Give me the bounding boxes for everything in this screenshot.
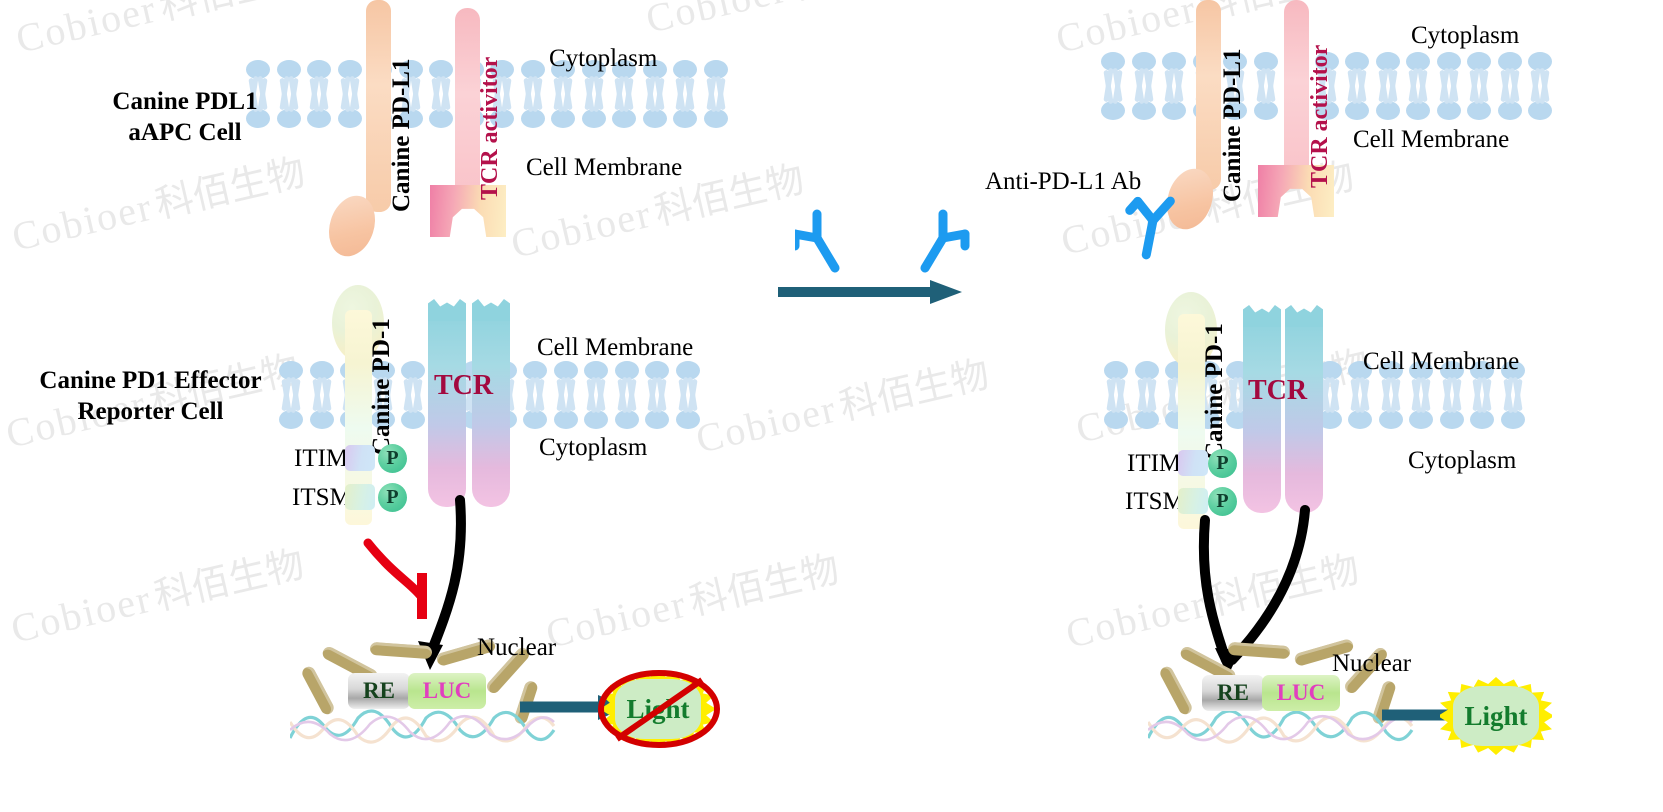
watermark-text-cn: 科佰生物 bbox=[150, 542, 308, 619]
no-light-prohibition-icon bbox=[596, 667, 722, 751]
lipid-molecule bbox=[1436, 54, 1462, 120]
lipid-molecule bbox=[309, 363, 335, 429]
phosphate-badge: P bbox=[1208, 449, 1237, 478]
lipid-molecule bbox=[306, 62, 332, 128]
tcr-chain bbox=[1285, 318, 1323, 513]
watermark-text-en: Cobioer bbox=[8, 184, 157, 260]
lipid-molecule bbox=[1466, 54, 1492, 120]
lipid-molecule bbox=[1103, 363, 1129, 429]
response-element-box: RE bbox=[348, 673, 410, 709]
luciferase-box: LUC bbox=[1262, 675, 1340, 711]
watermark: Cobioer 科佰生物 bbox=[690, 343, 994, 464]
effector-cytoplasm-label-right: Cytoplasm bbox=[1408, 447, 1516, 475]
watermark: Cobioer 科佰生物 bbox=[640, 0, 944, 44]
lipid-molecule bbox=[1253, 54, 1279, 120]
tcr-chain bbox=[428, 312, 466, 507]
luciferase-box: LUC bbox=[408, 673, 486, 709]
watermark: Cobioer 科佰生物 bbox=[5, 533, 309, 654]
itim-label-left: ITIM bbox=[294, 445, 348, 473]
tcr-activator-stem bbox=[1284, 0, 1309, 180]
lipid-molecule bbox=[1131, 54, 1157, 120]
nuclear-label-right: Nuclear bbox=[1332, 650, 1411, 678]
pd1-receptor-label: Canine PD-1 bbox=[368, 318, 396, 455]
pdl1-receptor-label: Canine PD-L1 bbox=[1219, 49, 1247, 202]
watermark-text-cn: 科佰生物 bbox=[151, 150, 309, 227]
lipid-molecule bbox=[703, 62, 729, 128]
lipid-molecule bbox=[644, 363, 670, 429]
apc-cytoplasm-label-right: Cytoplasm bbox=[1411, 22, 1519, 50]
lipid-molecule bbox=[1100, 54, 1126, 120]
watermark-text-cn: 科佰生物 bbox=[155, 0, 313, 29]
nuclear-label-left: Nuclear bbox=[477, 634, 556, 662]
lipid-molecule bbox=[276, 62, 302, 128]
apc-cell-title-left: Canine PDL1 aAPC Cell bbox=[95, 86, 275, 149]
antibody-pair-icon bbox=[795, 208, 975, 278]
itim-motif-box bbox=[1178, 450, 1208, 476]
pdl1-receptor-stem bbox=[1196, 0, 1221, 190]
effector-cell-membrane-label-left: Cell Membrane bbox=[537, 334, 693, 362]
watermark: Cobioer 科佰生物 bbox=[10, 0, 314, 64]
lipid-molecule bbox=[553, 363, 579, 429]
transition-arrow bbox=[778, 278, 968, 306]
effector-cell-title-line2: Reporter Cell bbox=[18, 396, 283, 427]
lipid-molecule bbox=[1375, 54, 1401, 120]
lipid-molecule bbox=[1405, 54, 1431, 120]
response-element-box: RE bbox=[1202, 675, 1264, 711]
tcr-label: TCR bbox=[1248, 375, 1307, 407]
lipid-molecule bbox=[337, 62, 363, 128]
effector-cell-title-left: Canine PD1 Effector Reporter Cell bbox=[18, 365, 283, 428]
bound-antibody-icon bbox=[1115, 196, 1225, 272]
watermark-text-en: Cobioer bbox=[507, 191, 656, 267]
effector-cell-membrane-label-right: Cell Membrane bbox=[1363, 348, 1519, 376]
watermark-text-cn: 科佰生物 bbox=[835, 352, 993, 429]
itim-motif-box bbox=[345, 445, 375, 471]
lipid-molecule bbox=[614, 363, 640, 429]
lipid-molecule bbox=[1161, 54, 1187, 120]
lipid-molecule bbox=[522, 363, 548, 429]
pd1-receptor-label: Canine PD-1 bbox=[1201, 323, 1229, 460]
effector-cell-title-line1: Canine PD1 Effector bbox=[18, 365, 283, 396]
apc-cytoplasm-label-left: Cytoplasm bbox=[549, 45, 657, 73]
apc-cell-title-line2: aAPC Cell bbox=[95, 117, 275, 148]
lipid-molecule bbox=[1497, 54, 1523, 120]
watermark-text-en: Cobioer bbox=[12, 0, 161, 62]
lipid-molecule bbox=[400, 363, 426, 429]
apc-cell-membrane-label-left: Cell Membrane bbox=[526, 154, 682, 182]
watermark-text-en: Cobioer bbox=[642, 0, 791, 42]
lipid-molecule bbox=[1527, 54, 1553, 120]
tcr-activator-label: TCR activitor bbox=[477, 57, 504, 200]
diagram-canvas: Cobioer 科佰生物 Cobioer 科佰生物 Cobioer 科佰生物 C… bbox=[0, 0, 1663, 812]
dna-helix-right bbox=[1148, 706, 1418, 752]
watermark-text-cn: 科佰生物 bbox=[785, 0, 943, 9]
phosphate-badge: P bbox=[378, 444, 407, 473]
lipid-molecule bbox=[672, 62, 698, 128]
light-label: Light bbox=[1440, 677, 1552, 755]
lipid-molecule bbox=[583, 363, 609, 429]
watermark-text-en: Cobioer bbox=[7, 576, 156, 652]
reporter-construct-left: RE LUC bbox=[348, 673, 486, 709]
tcr-activator-label: TCR activitor bbox=[1307, 45, 1334, 188]
apc-membrane-right bbox=[1100, 52, 1570, 120]
reporter-construct-right: RE LUC bbox=[1202, 675, 1340, 711]
apc-cell-title-line1: Canine PDL1 bbox=[95, 86, 275, 117]
effector-cytoplasm-label-left: Cytoplasm bbox=[539, 434, 647, 462]
lipid-molecule bbox=[428, 62, 454, 128]
pdl1-receptor-label: Canine PD-L1 bbox=[388, 59, 416, 212]
lipid-molecule bbox=[675, 363, 701, 429]
tcr-chain bbox=[472, 312, 510, 507]
lipid-molecule bbox=[1134, 363, 1160, 429]
apc-cell-membrane-label-right: Cell Membrane bbox=[1353, 126, 1509, 154]
anti-pdl1-antibody-label: Anti-PD-L1 Ab bbox=[985, 168, 1141, 196]
tcr-chain bbox=[1243, 318, 1281, 513]
watermark: Cobioer 科佰生物 bbox=[6, 141, 310, 262]
itim-label-right: ITIM bbox=[1127, 450, 1181, 478]
tcr-label: TCR bbox=[434, 370, 493, 402]
lipid-molecule bbox=[1344, 54, 1370, 120]
lipid-molecule bbox=[520, 62, 546, 128]
watermark-text-cn: 科佰生物 bbox=[685, 547, 843, 624]
light-output-right: Light bbox=[1440, 677, 1552, 755]
